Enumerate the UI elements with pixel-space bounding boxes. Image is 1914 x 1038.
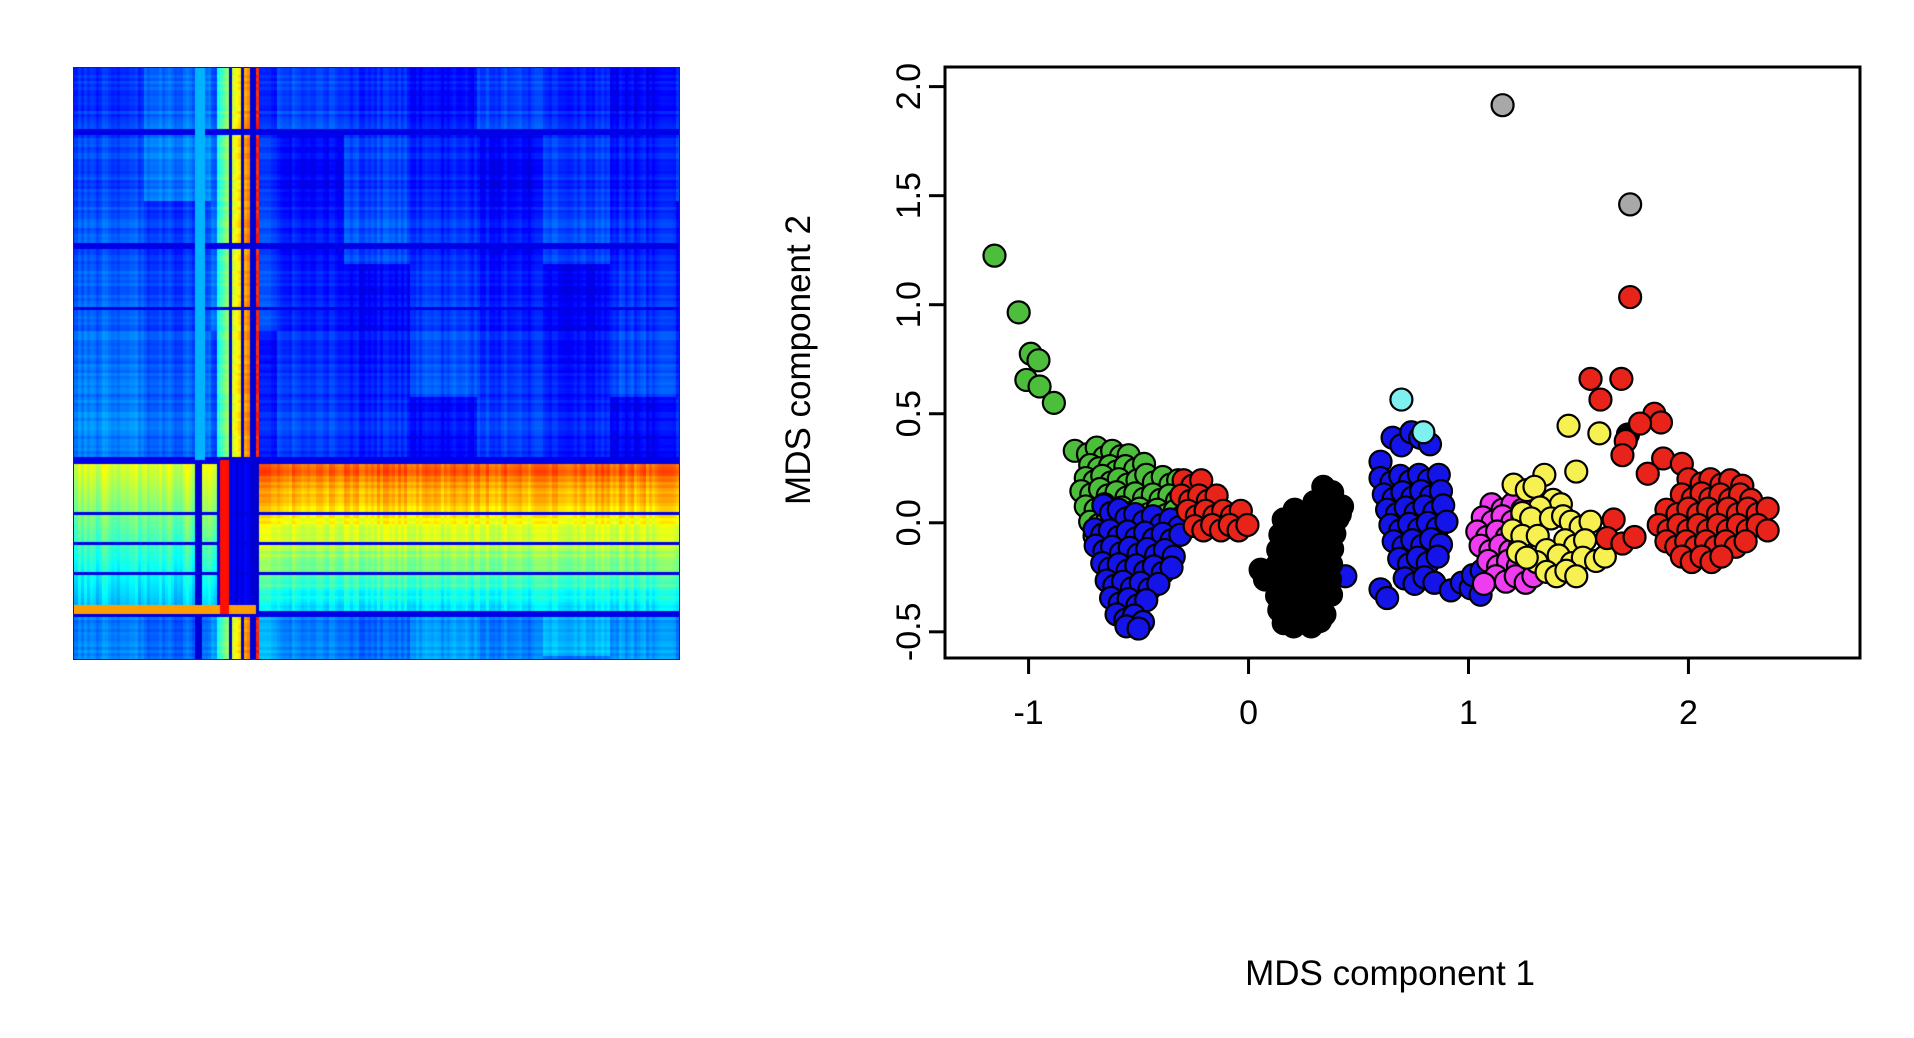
data-point (1619, 286, 1641, 308)
x-axis-title: MDS component 1 (1245, 954, 1535, 993)
data-point (1008, 301, 1030, 323)
data-point (1558, 415, 1580, 437)
data-point (1650, 411, 1672, 433)
data-point (1565, 565, 1587, 587)
data-point (1492, 94, 1514, 116)
x-tick-label: 2 (1679, 694, 1698, 732)
y-tick-label: 1.5 (890, 172, 928, 219)
x-tick-label: 1 (1459, 694, 1478, 732)
y-axis-title: MDS component 2 (779, 215, 818, 505)
mds-scatter-panel: -1012-0.50.00.51.01.52.0 MDS component 1… (760, 0, 1914, 1038)
y-tick-label: 2.0 (890, 63, 928, 110)
data-point (1473, 573, 1495, 595)
data-point (1710, 546, 1732, 568)
data-point (1611, 444, 1633, 466)
data-point (1376, 587, 1398, 609)
series-gray (1492, 94, 1642, 215)
series-green (983, 245, 1196, 553)
data-point (1580, 368, 1602, 390)
y-tick-label: 0.5 (890, 390, 928, 437)
data-point (1427, 546, 1449, 568)
data-point (1254, 568, 1276, 590)
data-point (1390, 389, 1412, 411)
data-point (1043, 392, 1065, 414)
data-point (1435, 511, 1457, 533)
data-point (1236, 514, 1258, 536)
x-tick-label: -1 (1013, 694, 1043, 732)
data-point (1309, 610, 1331, 632)
y-tick-label: 1.0 (890, 281, 928, 328)
data-point (1412, 421, 1434, 443)
data-point (983, 245, 1005, 267)
heatmap-panel (0, 0, 760, 1038)
data-point (1523, 476, 1545, 498)
mds-scatter-plot: -1012-0.50.00.51.01.52.0 MDS component 1… (760, 0, 1914, 1038)
y-tick-label: 0.0 (890, 499, 928, 546)
data-point (1565, 461, 1587, 483)
data-point (1757, 519, 1779, 541)
data-point (1027, 349, 1049, 371)
similarity-matrix-heatmap (73, 67, 680, 660)
data-point (1624, 526, 1646, 548)
data-point (1589, 389, 1611, 411)
y-tick-label: -0.5 (890, 603, 928, 662)
data-point (1637, 463, 1659, 485)
data-point (1128, 618, 1150, 640)
x-tick-label: 0 (1239, 694, 1258, 732)
data-point (1610, 368, 1632, 390)
figure-root: -1012-0.50.00.51.01.52.0 MDS component 1… (0, 0, 1914, 1038)
data-point (1516, 547, 1538, 569)
data-point (1588, 422, 1610, 444)
data-points-layer (983, 94, 1778, 639)
data-point (1735, 530, 1757, 552)
data-point (1619, 193, 1641, 215)
